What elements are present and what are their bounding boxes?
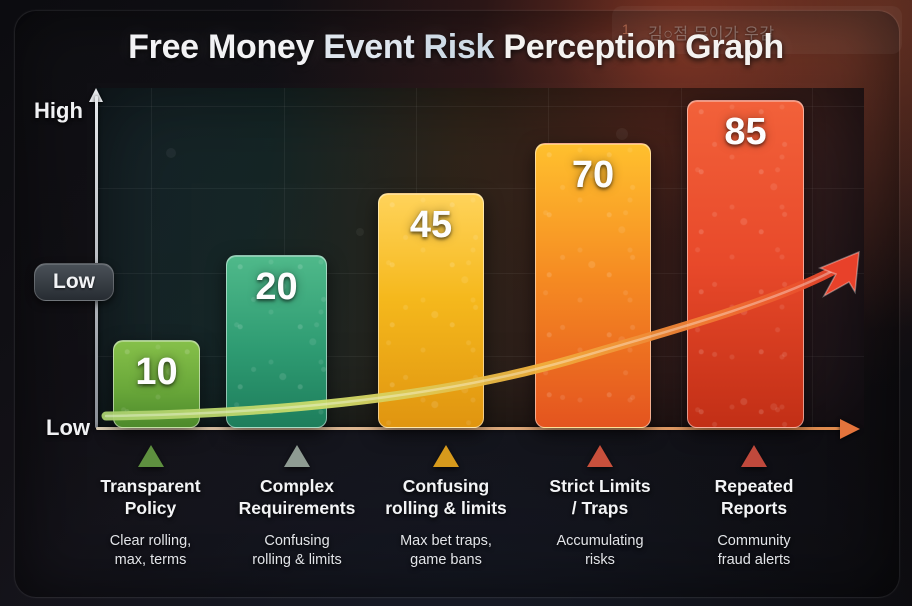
category-2[interactable]: Complex Requirements Confusing rolling &… (218, 445, 376, 569)
category-title-line2: Reports (721, 498, 787, 518)
category-sub-2: Confusing rolling & limits (218, 532, 376, 570)
category-title-5: Repeated Reports (676, 475, 832, 520)
category-4[interactable]: Strict Limits / Traps Accumulating risks (522, 445, 678, 569)
category-title-line1: Complex (260, 476, 334, 496)
bar-3[interactable]: 45 (378, 193, 484, 428)
category-sub-line1: Clear rolling, (110, 533, 191, 549)
title-word-3: Event (323, 28, 414, 66)
category-title-1: Transparent Policy (78, 475, 223, 520)
bar-5[interactable]: 85 (687, 100, 804, 428)
title-word-2: Money (208, 28, 314, 66)
category-title-line1: Transparent (100, 476, 200, 496)
page-title: Free Money Event Risk Perception Graph (0, 28, 912, 67)
title-word-1: Free (128, 28, 199, 66)
grid-line-v (812, 88, 813, 428)
bar-value-4: 70 (536, 154, 650, 197)
x-axis-low-label: Low (46, 415, 90, 441)
grid-line-v (681, 88, 682, 428)
category-sub-line2: risks (585, 552, 615, 568)
marker-triangle-icon (741, 445, 767, 467)
bar-value-1: 10 (114, 351, 199, 394)
y-axis-high-label: High (34, 98, 83, 124)
category-sub-1: Clear rolling, max, terms (78, 532, 223, 570)
marker-triangle-icon (587, 445, 613, 467)
category-title-4: Strict Limits / Traps (522, 475, 678, 520)
category-title-line2: rolling & limits (385, 498, 507, 518)
marker-triangle-icon (284, 445, 310, 467)
category-title-3: Confusing rolling & limits (368, 475, 524, 520)
texture-speck (616, 128, 628, 140)
category-sub-line1: Confusing (264, 533, 329, 549)
category-sub-line2: max, terms (115, 552, 187, 568)
category-sub-3: Max bet traps, game bans (368, 532, 524, 570)
category-sub-4: Accumulating risks (522, 532, 678, 570)
category-5[interactable]: Repeated Reports Community fraud alerts (676, 445, 832, 569)
category-sub-line2: fraud alerts (718, 552, 791, 568)
bar-value-2: 20 (227, 266, 326, 309)
y-axis-line (95, 96, 98, 428)
category-title-line2: Requirements (239, 498, 356, 518)
category-sub-line2: game bans (410, 552, 482, 568)
x-axis-arrow-icon (840, 419, 860, 439)
category-title-line1: Repeated (715, 476, 794, 496)
bar-4[interactable]: 70 (535, 143, 651, 428)
texture-speck (166, 148, 176, 158)
category-title-line1: Confusing (403, 476, 490, 496)
category-title-line2: Policy (125, 498, 177, 518)
category-sub-line1: Accumulating (556, 533, 643, 549)
bar-value-5: 85 (688, 111, 803, 154)
category-title-2: Complex Requirements (218, 475, 376, 520)
category-sub-line2: rolling & limits (252, 552, 341, 568)
texture-speck (356, 228, 364, 236)
category-sub-line1: Max bet traps, (400, 533, 492, 549)
category-title-line1: Strict Limits (549, 476, 650, 496)
marker-triangle-icon (138, 445, 164, 467)
category-title-line2: / Traps (572, 498, 628, 518)
category-sub-line1: Community (717, 533, 790, 549)
category-sub-5: Community fraud alerts (676, 532, 832, 570)
marker-triangle-icon (433, 445, 459, 467)
category-1[interactable]: Transparent Policy Clear rolling, max, t… (78, 445, 223, 569)
title-word-4: Risk (424, 28, 495, 66)
bar-1[interactable]: 10 (113, 340, 200, 428)
bar-2[interactable]: 20 (226, 255, 327, 428)
y-axis-low-badge: Low (34, 263, 114, 301)
category-3[interactable]: Confusing rolling & limits Max bet traps… (368, 445, 524, 569)
title-word-5: Perception Graph (503, 28, 783, 66)
infographic-canvas: 1 김○점 무이가 우감 Free Money Event Risk Perce… (0, 0, 912, 606)
bar-value-3: 45 (379, 204, 483, 247)
